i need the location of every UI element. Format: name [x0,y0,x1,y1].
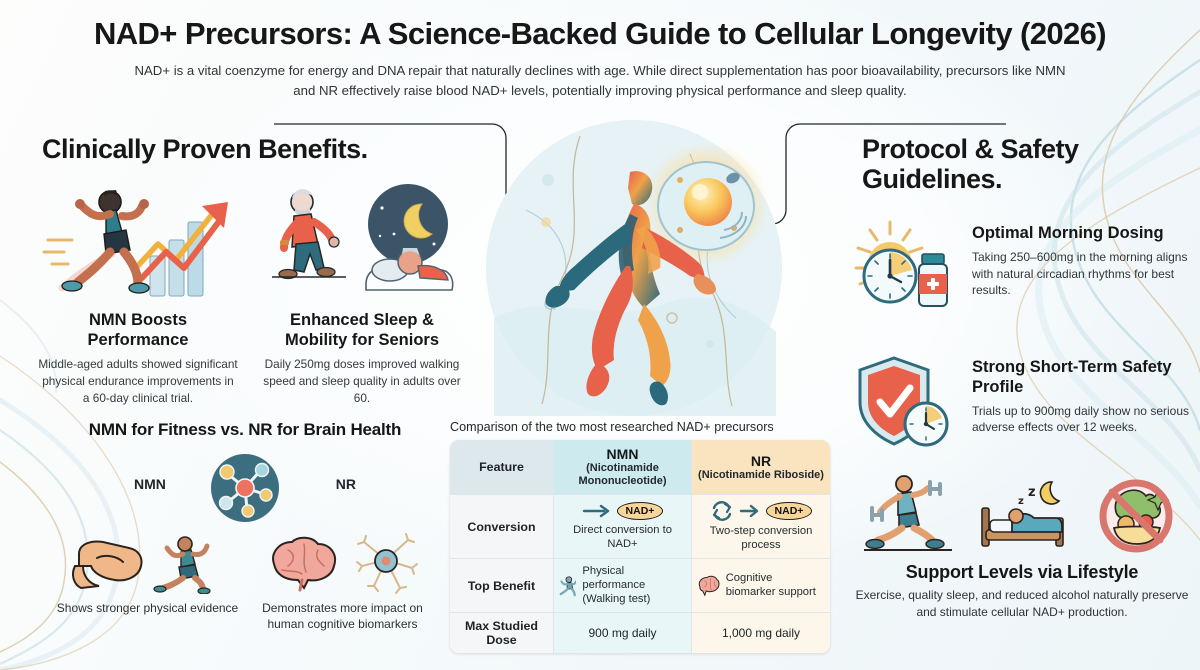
compare-label-nmn: NMN [134,476,166,492]
table-row: Conversion NAD+ Direct conversion to NAD… [450,495,830,559]
header: NAD+ Precursors: A Science-Backed Guide … [0,16,1200,102]
col-full-nmn: (Nicotinamide Mononucleotide) [559,462,686,488]
shield-check-clock-icon [850,352,958,448]
guideline-title: Optimal Morning Dosing [972,224,1195,244]
compare-section: NMN for Fitness vs. NR for Brain Health … [50,420,440,632]
benefit-title: NMN Boosts Performance [38,310,238,350]
cell-text: Two-step conversion process [697,524,825,552]
compare-label-nr: NR [336,476,356,492]
table-header-row: Feature NMN (Nicotinamide Mononucleotide… [450,440,830,495]
benefit-body: Daily 250mg doses improved walking speed… [262,356,462,406]
lifestyle-body: Exercise, quality sleep, and reduced alc… [846,587,1198,620]
lifestyle-title: Support Levels via Lifestyle [846,562,1198,583]
guideline-title: Strong Short-Term Safety Profile [972,358,1195,398]
guideline-row: Optimal Morning Dosing Taking 250–600mg … [850,218,1195,314]
brain-neuron-icon [245,532,440,594]
table-caption: Comparison of the two most researched NA… [450,420,830,434]
page-title: NAD+ Precursors: A Science-Backed Guide … [0,16,1200,52]
arrow-right-icon [582,503,612,519]
benefit-card: Enhanced Sleep & Mobility for Seniors Da… [262,178,462,407]
sleep-bed-icon: z z [972,474,1072,556]
no-alcohol-food-icon [1088,474,1184,556]
col-abbr-nmn: NMN [559,446,686,462]
col-header-feature: Feature [450,440,554,495]
lifestyle-section: z z Support Levels via Lifestyle [846,470,1198,620]
sun-clock-pill-bottle-icon [850,218,958,314]
col-full-nr: (Nicotinamide Riboside) [697,469,825,482]
row-label-top-benefit: Top Benefit [450,559,554,613]
runner-icon [559,569,576,603]
cell-text: Direct conversion to NAD+ [559,523,686,551]
cell-text: Physical performance (Walking test) [582,565,686,606]
cell-text: Cognitive biomarker support [726,572,825,599]
benefit-card: NMN Boosts Performance Middle-aged adult… [38,178,238,407]
nad-pill: NAD+ [766,502,813,520]
compare-item: Demonstrates more impact on human cognit… [245,532,440,632]
section-heading-benefits: Clinically Proven Benefits. [42,134,368,164]
brain-icon [697,571,720,601]
benefit-title: Enhanced Sleep & Mobility for Seniors [262,310,462,350]
col-header-nmn: NMN (Nicotinamide Mononucleotide) [554,440,692,495]
compare-caption: Demonstrates more impact on human cognit… [245,600,440,632]
benefit-body: Middle-aged adults showed significant ph… [38,356,238,406]
section-heading-protocol: Protocol & Safety Guidelines. [862,134,1162,194]
infographic-canvas: NAD+ Precursors: A Science-Backed Guide … [0,0,1200,670]
comparison-table: Feature NMN (Nicotinamide Mononucleotide… [450,440,830,653]
nad-pill: NAD+ [617,502,664,520]
row-label-conversion: Conversion [450,495,554,559]
cell-conversion-nr: NAD+ Two-step conversion process [692,495,830,559]
table-row: Top Benefit Physical performan [450,559,830,613]
molecule-node-icon [209,452,281,524]
cell-dose-nmn: 900 mg daily [554,613,692,653]
svg-text:z: z [1018,496,1024,507]
compare-item: Shows stronger physical evidence [50,532,245,632]
arrow-right-icon [739,503,761,519]
compare-title: NMN for Fitness vs. NR for Brain Health [50,420,440,440]
exercise-dumbbell-icon [860,474,956,556]
col-abbr-nr: NR [697,453,825,469]
runner-growth-chart-icon [38,178,238,306]
bicep-runner-icon [50,532,245,594]
col-header-nr: NR (Nicotinamide Riboside) [692,440,830,495]
compare-caption: Shows stronger physical evidence [50,600,245,616]
guideline-body: Taking 250–600mg in the morning aligns w… [972,249,1195,299]
page-subtitle: NAD+ is a vital coenzyme for energy and … [125,61,1075,102]
cell-dose-nr: 1,000 mg daily [692,613,830,653]
cell-conversion-nmn: NAD+ Direct conversion to NAD+ [554,495,692,559]
guideline-body: Trials up to 900mg daily show no serious… [972,403,1195,437]
guideline-row: Strong Short-Term Safety Profile Trials … [850,352,1195,448]
senior-walking-sleep-icon [262,178,462,306]
running-figure-glowing-cell-illustration [484,118,784,418]
cycle-arrow-icon [710,501,734,521]
cell-benefit-nr: Cognitive biomarker support [692,559,830,613]
svg-text:z: z [1028,485,1036,500]
cell-benefit-nmn: Physical performance (Walking test) [554,559,692,613]
row-label-max-dose: Max Studied Dose [450,613,554,653]
table-row: Max Studied Dose 900 mg daily 1,000 mg d… [450,613,830,653]
comparison-table-section: Comparison of the two most researched NA… [450,420,830,653]
